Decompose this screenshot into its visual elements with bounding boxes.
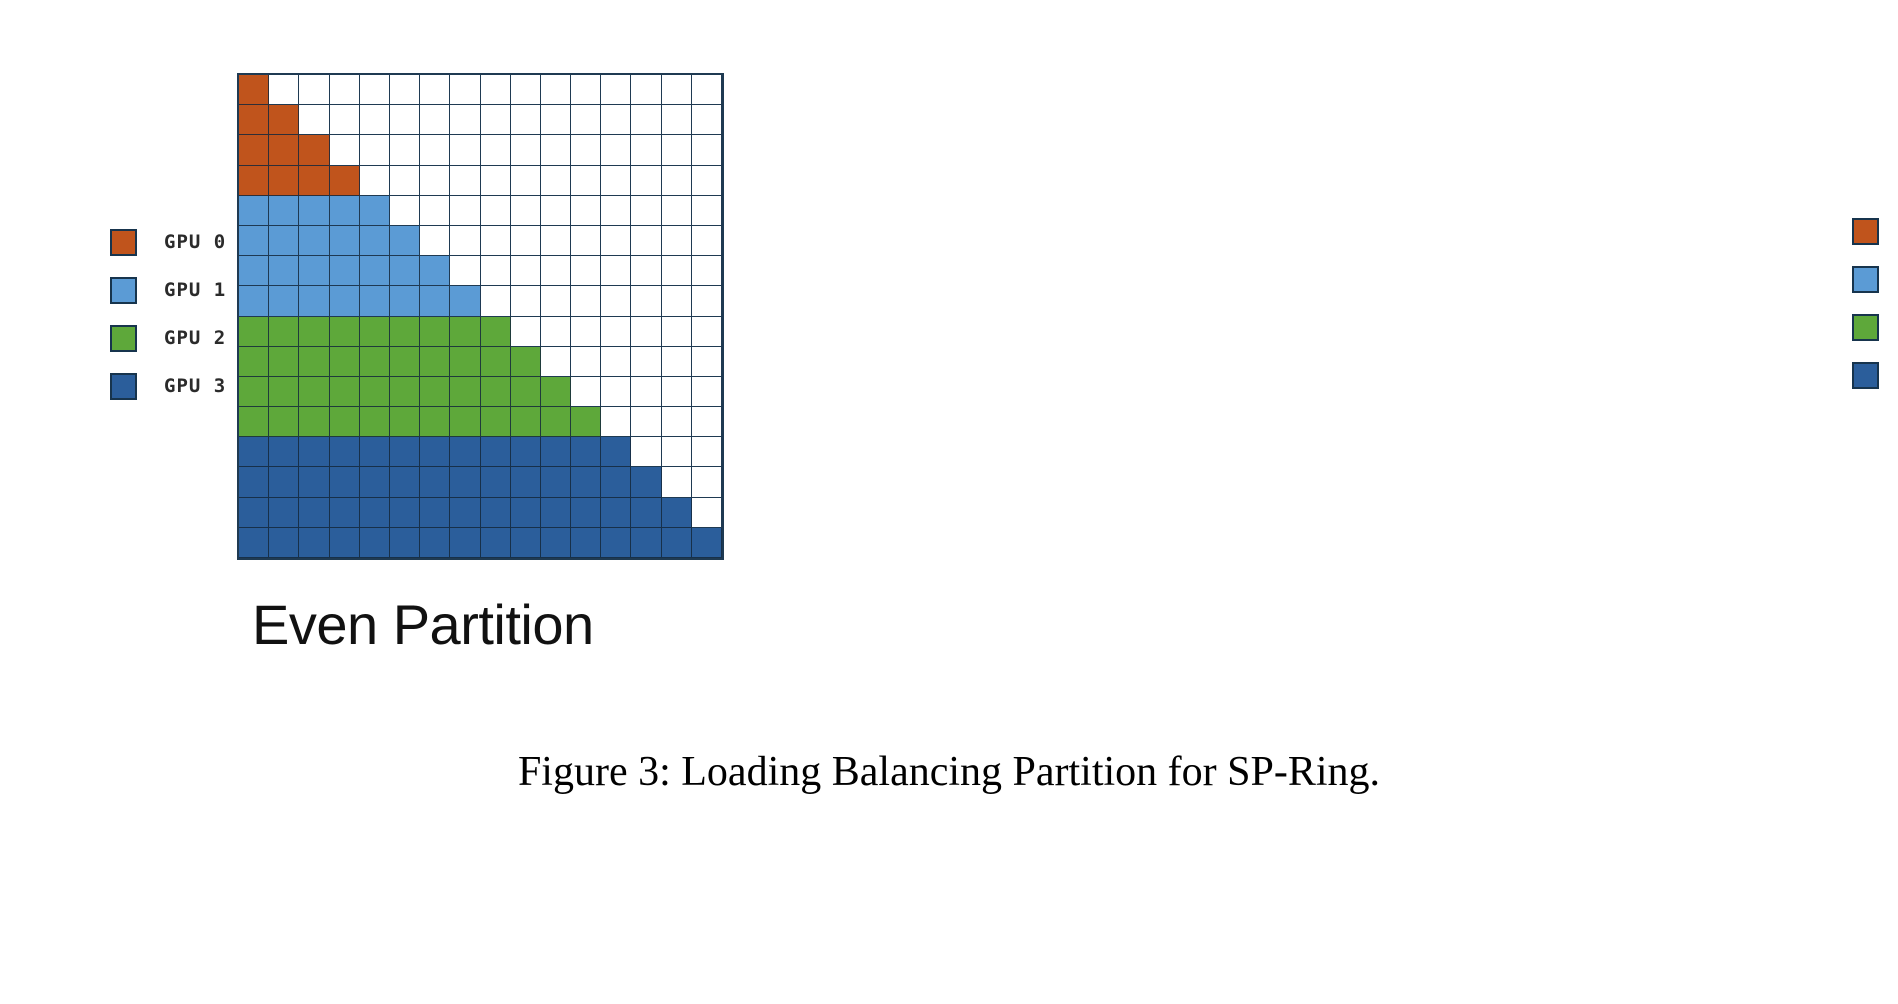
legend-swatch-gpu-1 — [110, 277, 137, 304]
grid-cell-empty — [662, 437, 692, 467]
legend-item-gpu-3: GPU 3 — [1852, 351, 1898, 399]
grid-cell-gpu-3 — [571, 498, 601, 528]
grid-cell-gpu-2 — [360, 317, 390, 347]
grid-cell-gpu-1 — [299, 196, 329, 226]
grid-cell-empty — [330, 105, 360, 135]
legend-label-gpu-2: GPU 2 — [164, 327, 226, 349]
grid-cell-empty — [692, 437, 722, 467]
grid-cell-empty — [631, 226, 661, 256]
grid-cell-gpu-3 — [360, 437, 390, 467]
grid-cell-gpu-2 — [269, 377, 299, 407]
grid-cell-empty — [662, 226, 692, 256]
grid-cell-empty — [390, 166, 420, 196]
grid-cell-gpu-3 — [481, 467, 511, 497]
grid-cell-gpu-2 — [450, 347, 480, 377]
grid-cell-gpu-0 — [269, 105, 299, 135]
grid-cell-empty — [631, 377, 661, 407]
grid-cell-gpu-0 — [239, 135, 269, 165]
grid-cell-empty — [601, 347, 631, 377]
grid-cell-gpu-2 — [450, 407, 480, 437]
grid-cell-empty — [330, 75, 360, 105]
grid-cell-gpu-3 — [269, 498, 299, 528]
legend-swatch-gpu-2 — [110, 325, 137, 352]
grid-cell-empty — [571, 105, 601, 135]
grid-cell-empty — [420, 226, 450, 256]
grid-cell-gpu-3 — [360, 498, 390, 528]
grid-cell-empty — [631, 347, 661, 377]
grid-cell-gpu-3 — [360, 528, 390, 558]
grid-cell-gpu-2 — [360, 377, 390, 407]
grid-cell-empty — [662, 256, 692, 286]
grid-cell-gpu-2 — [511, 407, 541, 437]
grid-cell-gpu-1 — [239, 256, 269, 286]
grid-cell-gpu-3 — [692, 528, 722, 558]
grid-cell-empty — [571, 286, 601, 316]
grid-cell-gpu-2 — [330, 347, 360, 377]
grid-cell-gpu-2 — [420, 347, 450, 377]
grid-cell-empty — [571, 256, 601, 286]
grid-cell-gpu-3 — [511, 498, 541, 528]
grid-cell-empty — [511, 166, 541, 196]
grid-cell-gpu-1 — [330, 196, 360, 226]
grid-cell-empty — [662, 467, 692, 497]
grid-cell-empty — [692, 166, 722, 196]
grid-cell-gpu-3 — [571, 528, 601, 558]
legend-item-gpu-2: GPU 2 — [1852, 303, 1898, 351]
grid-cell-gpu-2 — [299, 347, 329, 377]
grid-cell-gpu-3 — [299, 498, 329, 528]
grid-cell-gpu-2 — [239, 347, 269, 377]
grid-cell-empty — [541, 166, 571, 196]
grid-cell-empty — [601, 196, 631, 226]
grid-cell-empty — [541, 347, 571, 377]
grid-cell-gpu-2 — [450, 377, 480, 407]
grid-cell-empty — [571, 347, 601, 377]
grid-cell-gpu-1 — [360, 196, 390, 226]
grid-cell-empty — [330, 135, 360, 165]
grid-cell-gpu-2 — [390, 407, 420, 437]
grid-cell-gpu-3 — [601, 498, 631, 528]
grid-cell-gpu-3 — [299, 467, 329, 497]
grid-cell-empty — [420, 196, 450, 226]
grid-cell-gpu-3 — [330, 498, 360, 528]
grid-cell-gpu-2 — [481, 377, 511, 407]
legend-label-gpu-3: GPU 3 — [164, 375, 226, 397]
grid-cell-gpu-3 — [390, 437, 420, 467]
grid-cell-empty — [662, 377, 692, 407]
grid-cell-gpu-2 — [390, 377, 420, 407]
legend-item-gpu-1: GPU 1 — [110, 266, 226, 314]
grid-cell-gpu-0 — [239, 166, 269, 196]
grid-cell-gpu-2 — [239, 377, 269, 407]
grid-cell-gpu-3 — [239, 528, 269, 558]
grid-cell-empty — [541, 226, 571, 256]
grid-cell-gpu-2 — [239, 407, 269, 437]
grid-cell-empty — [511, 105, 541, 135]
grid-cell-gpu-3 — [481, 498, 511, 528]
grid-cell-empty — [450, 135, 480, 165]
grid-cell-gpu-1 — [450, 286, 480, 316]
grid-cell-empty — [662, 166, 692, 196]
grid-cell-empty — [481, 256, 511, 286]
grid-cell-gpu-3 — [420, 528, 450, 558]
grid-cell-gpu-3 — [481, 528, 511, 558]
grid-cell-gpu-3 — [420, 467, 450, 497]
grid-cell-empty — [420, 105, 450, 135]
grid-cell-gpu-3 — [511, 528, 541, 558]
grid-cell-gpu-3 — [571, 467, 601, 497]
grid-cell-empty — [420, 135, 450, 165]
grid-cell-empty — [692, 317, 722, 347]
grid-cell-gpu-3 — [420, 437, 450, 467]
grid-cell-gpu-3 — [511, 467, 541, 497]
grid-cell-gpu-2 — [360, 347, 390, 377]
grid-cell-gpu-1 — [420, 286, 450, 316]
grid-cell-empty — [692, 75, 722, 105]
grid-cell-empty — [631, 256, 661, 286]
legend-item-gpu-0: GPU 0 — [110, 218, 226, 266]
grid-cell-empty — [662, 286, 692, 316]
grid-cell-empty — [450, 196, 480, 226]
grid-cell-gpu-0 — [269, 135, 299, 165]
legend-item-gpu-1: GPU 1 — [1852, 255, 1898, 303]
legend-load-balance-partition: GPU 0GPU 1GPU 2GPU 3 — [1852, 207, 1898, 399]
grid-cell-empty — [450, 166, 480, 196]
grid-cell-empty — [450, 105, 480, 135]
grid-cell-gpu-1 — [299, 286, 329, 316]
grid-cell-empty — [541, 105, 571, 135]
grid-cell-gpu-2 — [420, 377, 450, 407]
grid-cell-gpu-2 — [269, 407, 299, 437]
grid-cell-gpu-1 — [360, 256, 390, 286]
grid-cell-empty — [662, 317, 692, 347]
grid-cell-gpu-3 — [541, 498, 571, 528]
grid-cell-gpu-3 — [571, 437, 601, 467]
grid-cell-gpu-3 — [269, 528, 299, 558]
legend-item-gpu-0: GPU 0 — [1852, 207, 1898, 255]
grid-cell-gpu-2 — [481, 407, 511, 437]
grid-cell-gpu-2 — [511, 347, 541, 377]
grid-cell-empty — [511, 256, 541, 286]
grid-cell-empty — [481, 135, 511, 165]
grid-cell-empty — [601, 75, 631, 105]
legend-even-partition: GPU 0GPU 1GPU 2GPU 3 — [110, 218, 226, 410]
grid-cell-gpu-2 — [571, 407, 601, 437]
grid-cell-gpu-1 — [360, 286, 390, 316]
grid-cell-empty — [571, 226, 601, 256]
grid-cell-empty — [511, 226, 541, 256]
grid-cell-empty — [481, 286, 511, 316]
grid-cell-empty — [601, 166, 631, 196]
grid-cell-empty — [511, 286, 541, 316]
grid-cell-empty — [360, 105, 390, 135]
grid-cell-empty — [662, 75, 692, 105]
grid-cell-gpu-2 — [390, 317, 420, 347]
grid-cell-empty — [571, 75, 601, 105]
grid-cell-empty — [390, 105, 420, 135]
grid-cell-empty — [511, 196, 541, 226]
grid-cell-empty — [360, 166, 390, 196]
grid-cell-empty — [692, 135, 722, 165]
grid-cell-empty — [390, 196, 420, 226]
grid-cell-gpu-2 — [330, 407, 360, 437]
grid-cell-gpu-2 — [420, 317, 450, 347]
legend-swatch-gpu-2 — [1852, 314, 1879, 341]
grid-cell-gpu-2 — [481, 347, 511, 377]
grid-cell-empty — [360, 75, 390, 105]
grid-cell-gpu-2 — [269, 317, 299, 347]
grid-cell-empty — [601, 377, 631, 407]
grid-cell-empty — [481, 105, 511, 135]
grid-cell-empty — [692, 286, 722, 316]
grid-cell-gpu-1 — [330, 256, 360, 286]
legend-swatch-gpu-1 — [1852, 266, 1879, 293]
grid-cell-gpu-2 — [330, 377, 360, 407]
grid-cell-empty — [692, 467, 722, 497]
grid-cell-empty — [481, 226, 511, 256]
grid-cell-gpu-3 — [541, 437, 571, 467]
grid-cell-gpu-2 — [541, 377, 571, 407]
grid-cell-empty — [420, 75, 450, 105]
grid-cell-gpu-3 — [360, 467, 390, 497]
grid-cell-gpu-1 — [239, 286, 269, 316]
grid-cell-gpu-3 — [662, 498, 692, 528]
grid-cell-gpu-3 — [390, 467, 420, 497]
grid-cell-empty — [420, 166, 450, 196]
grid-cell-empty — [631, 437, 661, 467]
grid-cell-empty — [450, 226, 480, 256]
grid-cell-gpu-3 — [390, 498, 420, 528]
grid-cell-gpu-2 — [541, 407, 571, 437]
grid-cell-empty — [601, 407, 631, 437]
grid-cell-empty — [692, 105, 722, 135]
grid-cell-gpu-3 — [239, 437, 269, 467]
grid-cell-gpu-3 — [239, 467, 269, 497]
grid-cell-gpu-3 — [390, 528, 420, 558]
grid-cell-gpu-2 — [269, 347, 299, 377]
grid-cell-empty — [481, 166, 511, 196]
grid-cell-gpu-3 — [330, 528, 360, 558]
grid-cell-empty — [390, 75, 420, 105]
grid-cell-gpu-3 — [299, 437, 329, 467]
grid-cell-gpu-1 — [299, 226, 329, 256]
grid-cell-empty — [571, 135, 601, 165]
grid-cell-empty — [541, 286, 571, 316]
legend-item-gpu-2: GPU 2 — [110, 314, 226, 362]
panel-even-partition: GPU 0GPU 1GPU 2GPU 3 Even Partition — [0, 0, 949, 1004]
grid-cell-empty — [601, 256, 631, 286]
grid-cell-empty — [601, 135, 631, 165]
grid-cell-empty — [450, 256, 480, 286]
grid-cell-gpu-3 — [541, 467, 571, 497]
grid-cell-empty — [631, 135, 661, 165]
grid-cell-empty — [631, 317, 661, 347]
grid-cell-empty — [390, 135, 420, 165]
grid-cell-empty — [541, 196, 571, 226]
grid-cell-empty — [601, 286, 631, 316]
grid-cell-empty — [692, 377, 722, 407]
grid-cell-empty — [601, 317, 631, 347]
grid-cell-empty — [541, 75, 571, 105]
grid-cell-empty — [571, 166, 601, 196]
grid-cell-gpu-3 — [269, 467, 299, 497]
grid-cell-empty — [631, 75, 661, 105]
grid-cell-gpu-2 — [481, 317, 511, 347]
grid-cell-gpu-1 — [299, 256, 329, 286]
grid-cell-empty — [269, 75, 299, 105]
grid-cell-gpu-1 — [269, 226, 299, 256]
grid-cell-gpu-3 — [330, 437, 360, 467]
grid-cell-gpu-0 — [269, 166, 299, 196]
grid-cell-gpu-2 — [420, 407, 450, 437]
grid-cell-gpu-3 — [481, 437, 511, 467]
grid-cell-gpu-1 — [360, 226, 390, 256]
grid-cell-empty — [601, 105, 631, 135]
grid-cell-empty — [692, 407, 722, 437]
grid-cell-empty — [571, 196, 601, 226]
grid-cell-gpu-3 — [601, 467, 631, 497]
grid-cell-gpu-3 — [511, 437, 541, 467]
grid-cell-empty — [299, 75, 329, 105]
grid-cell-gpu-0 — [299, 135, 329, 165]
grid-cell-empty — [511, 75, 541, 105]
grid-cell-empty — [631, 166, 661, 196]
grid-cell-gpu-1 — [420, 256, 450, 286]
grid-cell-gpu-1 — [390, 256, 420, 286]
grid-cell-gpu-2 — [239, 317, 269, 347]
grid-cell-gpu-3 — [450, 528, 480, 558]
grid-cell-gpu-2 — [360, 407, 390, 437]
grid-cell-empty — [692, 226, 722, 256]
grid-cell-gpu-0 — [239, 105, 269, 135]
grid-cell-gpu-3 — [631, 467, 661, 497]
grid-cell-empty — [662, 135, 692, 165]
legend-swatch-gpu-0 — [110, 229, 137, 256]
panel-caption-even: Even Partition — [252, 592, 594, 657]
grid-cell-gpu-3 — [662, 528, 692, 558]
grid-cell-gpu-1 — [239, 196, 269, 226]
grid-cell-empty — [631, 105, 661, 135]
grid-cell-empty — [692, 498, 722, 528]
grid-cell-gpu-3 — [631, 528, 661, 558]
grid-cell-empty — [541, 317, 571, 347]
legend-label-gpu-0: GPU 0 — [164, 231, 226, 253]
grid-cell-empty — [511, 317, 541, 347]
grid-cell-empty — [481, 196, 511, 226]
grid-cell-empty — [631, 286, 661, 316]
grid-cell-gpu-2 — [299, 317, 329, 347]
legend-swatch-gpu-0 — [1852, 218, 1879, 245]
grid-cell-gpu-3 — [269, 437, 299, 467]
panel-load-balance-partition: GPU 0GPU 1GPU 2GPU 3 Load Balance Partit… — [949, 0, 1898, 1004]
grid-cell-empty — [511, 135, 541, 165]
grid-cell-gpu-0 — [330, 166, 360, 196]
grid-cell-empty — [662, 407, 692, 437]
legend-swatch-gpu-3 — [110, 373, 137, 400]
legend-item-gpu-3: GPU 3 — [110, 362, 226, 410]
grid-cell-gpu-2 — [450, 317, 480, 347]
grid-cell-gpu-3 — [450, 437, 480, 467]
grid-cell-gpu-1 — [390, 286, 420, 316]
grid-cell-gpu-2 — [511, 377, 541, 407]
grid-cell-gpu-2 — [299, 407, 329, 437]
grid-cell-empty — [571, 377, 601, 407]
grid-cell-gpu-0 — [239, 75, 269, 105]
grid-cell-gpu-3 — [601, 437, 631, 467]
grid-cell-empty — [692, 196, 722, 226]
grid-cell-gpu-1 — [239, 226, 269, 256]
grid-cell-gpu-1 — [269, 196, 299, 226]
grid-cell-empty — [601, 226, 631, 256]
grid-cell-gpu-3 — [541, 528, 571, 558]
grid-cell-empty — [571, 317, 601, 347]
grid-cell-gpu-3 — [450, 498, 480, 528]
grid-cell-gpu-3 — [239, 498, 269, 528]
grid-cell-empty — [692, 256, 722, 286]
grid-cell-gpu-1 — [269, 286, 299, 316]
grid-cell-gpu-1 — [330, 226, 360, 256]
grid-cell-empty — [541, 256, 571, 286]
grid-cell-empty — [692, 347, 722, 377]
grid-cell-empty — [662, 196, 692, 226]
grid-cell-gpu-2 — [390, 347, 420, 377]
figure-root: GPU 0GPU 1GPU 2GPU 3 Even Partition GPU … — [0, 0, 1898, 1004]
grid-cell-gpu-2 — [299, 377, 329, 407]
grid-cell-gpu-1 — [330, 286, 360, 316]
figure-caption: Figure 3: Loading Balancing Partition fo… — [0, 748, 1898, 796]
grid-even-partition — [237, 73, 724, 560]
grid-cell-gpu-3 — [631, 498, 661, 528]
grid-cell-empty — [299, 105, 329, 135]
grid-cell-gpu-1 — [269, 256, 299, 286]
grid-cell-empty — [662, 347, 692, 377]
grid-cell-gpu-0 — [299, 166, 329, 196]
grid-cell-gpu-3 — [299, 528, 329, 558]
legend-swatch-gpu-3 — [1852, 362, 1879, 389]
grid-cell-empty — [481, 75, 511, 105]
grid-cell-gpu-2 — [330, 317, 360, 347]
legend-label-gpu-1: GPU 1 — [164, 279, 226, 301]
grid-cell-empty — [631, 196, 661, 226]
grid-cell-gpu-3 — [330, 467, 360, 497]
grid-cell-gpu-1 — [390, 226, 420, 256]
grid-cell-gpu-3 — [450, 467, 480, 497]
grid-cell-empty — [450, 75, 480, 105]
grid-cell-gpu-3 — [420, 498, 450, 528]
grid-cell-empty — [662, 105, 692, 135]
grid-cell-empty — [541, 135, 571, 165]
grid-cell-gpu-3 — [601, 528, 631, 558]
grid-cell-empty — [631, 407, 661, 437]
grid-cell-empty — [360, 135, 390, 165]
